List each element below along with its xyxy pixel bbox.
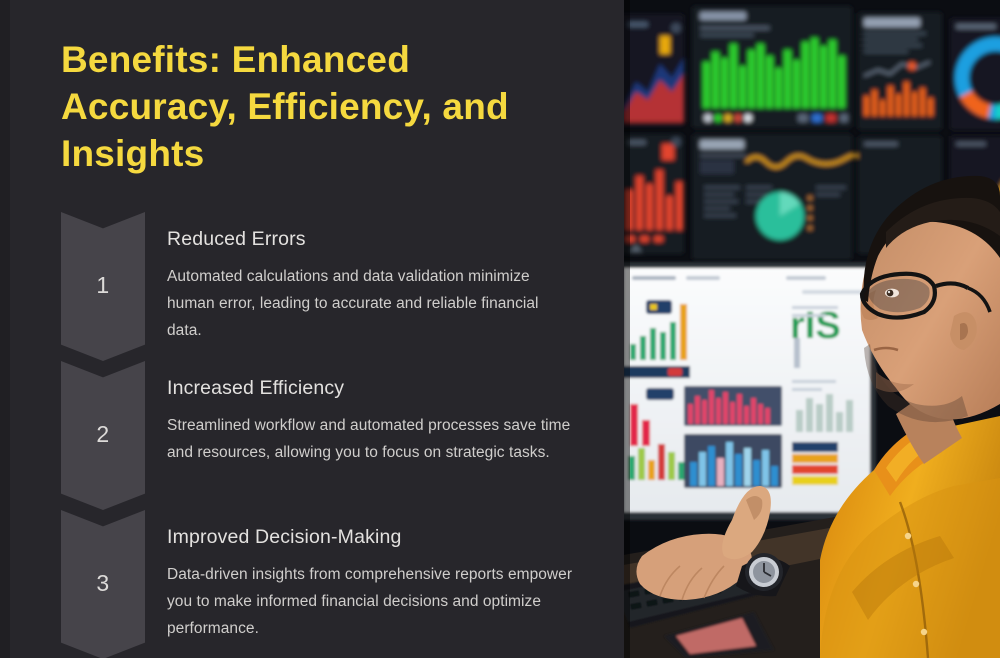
benefit-row: 2 Increased Efficiency Streamlined workf… [0, 361, 624, 510]
page-title: Benefits: Enhanced Accuracy, Efficiency,… [61, 36, 581, 177]
left-content-pane: Benefits: Enhanced Accuracy, Efficiency,… [0, 0, 624, 658]
benefit-title: Increased Efficiency [167, 375, 577, 401]
benefit-number: 2 [96, 423, 109, 448]
benefit-text-block: Improved Decision-Making Data-driven ins… [167, 524, 577, 642]
benefit-title: Improved Decision-Making [167, 524, 577, 550]
benefit-number-badge: 1 [61, 212, 145, 361]
benefit-description: Streamlined workflow and automated proce… [167, 412, 577, 466]
hero-photo: rIS [624, 0, 1000, 658]
benefit-text-block: Increased Efficiency Streamlined workflo… [167, 375, 577, 466]
benefit-number: 3 [96, 572, 109, 597]
benefit-title: Reduced Errors [167, 226, 577, 252]
benefit-number-badge: 3 [61, 510, 145, 658]
benefit-row: 3 Improved Decision-Making Data-driven i… [0, 510, 624, 658]
hero-photo-illustration: rIS [624, 0, 1000, 658]
benefit-text-block: Reduced Errors Automated calculations an… [167, 226, 577, 344]
benefit-description: Automated calculations and data validati… [167, 263, 577, 344]
benefit-row: 1 Reduced Errors Automated calculations … [0, 212, 624, 361]
benefit-description: Data-driven insights from comprehensive … [167, 561, 577, 642]
benefit-number-badge: 2 [61, 361, 145, 510]
benefit-list: 1 Reduced Errors Automated calculations … [0, 212, 624, 658]
slide-root: Benefits: Enhanced Accuracy, Efficiency,… [0, 0, 1000, 658]
benefit-number: 1 [96, 274, 109, 299]
